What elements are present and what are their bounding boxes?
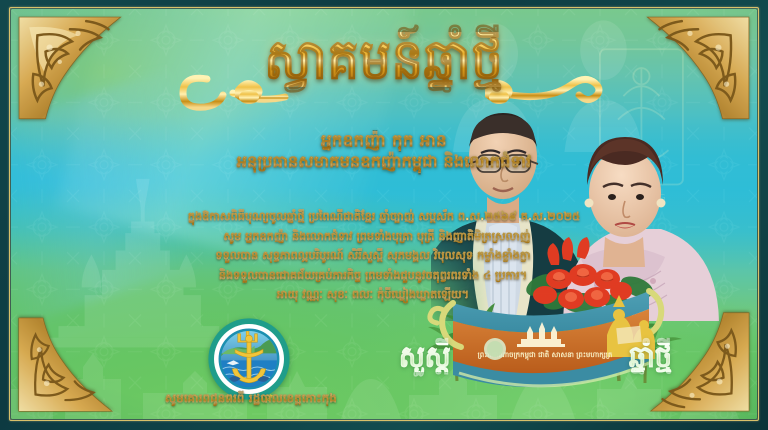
cambodian-flag-boat: ព្រះរាជាណាចក្រកម្ពុជា ជាតិ សាសនា ព្រះមហា… bbox=[430, 291, 661, 387]
message-line-2: សូម អ្នកឧកញ៉ា និងលោកជំទាវ ព្រមទាំងបុត្រា… bbox=[25, 227, 743, 247]
message-line-4: និងទទួលបានជោគជ័យគ្រប់ភារកិច្ច ព្រមទាំងជួ… bbox=[25, 266, 743, 286]
title-text: ស្វាគមន៍ឆ្នាំថ្មី bbox=[149, 32, 619, 87]
greeting-text-left: សួស្តី bbox=[399, 343, 450, 372]
greeting-text-right: ឆ្នាំថ្មី bbox=[629, 343, 672, 372]
message-line-3: ទទួលបាន សុទ្ធភាពល្អបរិបូរណ៍ សិរីសួស្តី ស… bbox=[25, 246, 743, 266]
svg-text:KOH KONG: KOH KONG bbox=[230, 317, 269, 318]
new-year-greeting-card: KOH KONG bbox=[0, 0, 768, 430]
honoree-name-line-1: អ្នកឧកញ៉ា កុក អាន bbox=[11, 131, 757, 151]
honoree-name-line-2: អនុប្រធានសមាគមនឧកញ៉ាកម្ពុជា និងលោកជំទាវ bbox=[11, 151, 757, 173]
main-title: ស្វាគមន៍ឆ្នាំថ្មី bbox=[11, 27, 757, 131]
message-line-1: ក្នុងឱកាសពិធីបុណ្យចូលឆ្នាំថ្មី ប្រពៃណីជា… bbox=[25, 207, 743, 227]
honoree-names: អ្នកឧកញ៉ា កុក អាន អនុប្រធានសមាគមនឧកញ៉ាកម… bbox=[11, 131, 757, 173]
card-stage: KOH KONG bbox=[11, 9, 757, 419]
province-seal: KOH KONG KOH KONG PROVINCE bbox=[207, 317, 291, 401]
